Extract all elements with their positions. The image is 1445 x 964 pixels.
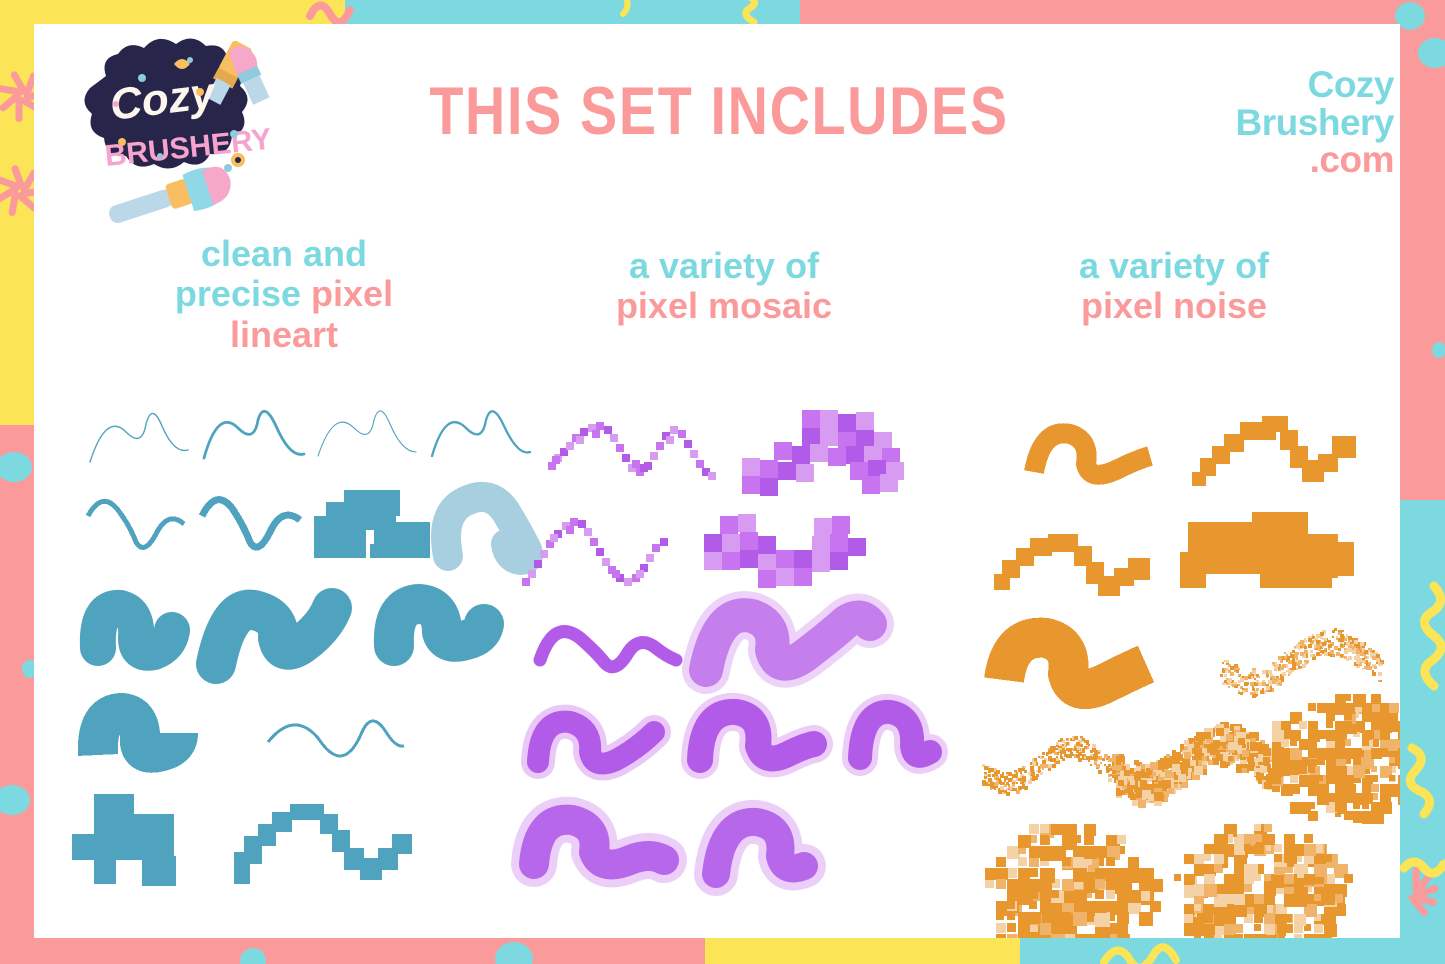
brush-sample-blocky-wave-solid <box>312 486 432 558</box>
heading-pink-text-2: lineart <box>230 314 338 355</box>
band-left-yellow <box>0 0 34 432</box>
squiggle-decoration <box>775 936 815 964</box>
brush-sample-noise-coarse-spray-2 <box>974 824 1154 938</box>
brush-sample-noise-stair-wave-1 <box>1192 404 1362 500</box>
corner-bottom-left <box>0 930 34 964</box>
band-top-yellow <box>0 0 345 24</box>
samples-column-noise <box>964 394 1400 938</box>
brush-sample-mosaic-mid-wave-3 <box>846 696 956 786</box>
heading-pink-text: pixel <box>311 273 393 314</box>
squiggle-decoration <box>1100 940 1180 964</box>
brush-sample-bigpixel-blocks-1 <box>72 794 212 884</box>
brush-sample-mosaic-big-blocks-2 <box>704 510 894 590</box>
squiggle-decoration <box>740 0 780 26</box>
brush-sample-mosaic-smooth-thin <box>532 612 692 682</box>
cozy-brushery-logo: Cozy BRUSHERY <box>82 38 272 223</box>
site-url: Cozy Brushery .com <box>1194 66 1394 179</box>
brush-sample-noise-coarse-spray-3 <box>1154 824 1364 938</box>
brush-sample-mosaic-big-blocks-1 <box>742 402 922 502</box>
brush-sample-bigpixel-stair-wave <box>234 792 414 884</box>
band-right-pink <box>1400 0 1445 505</box>
site-line-2: Brushery <box>1194 104 1394 142</box>
brush-sample-thick-wave-3 <box>372 590 502 670</box>
band-left-pink <box>0 425 34 964</box>
squiggle-decoration <box>300 0 360 24</box>
corner-top-left <box>0 0 34 24</box>
squiggle-decoration <box>1398 852 1445 898</box>
squiggle-decoration <box>1404 580 1445 690</box>
brush-sample-pixel-wave-small-2 <box>198 492 308 556</box>
brush-sample-thick-wave-2 <box>206 588 366 674</box>
brush-sample-mosaic-mid-wave-1 <box>524 704 684 790</box>
heading-pink-text: pixel mosaic <box>616 285 832 326</box>
brush-sample-noise-fine-spray-1 <box>1212 616 1392 706</box>
brush-sample-hairline-wave-long <box>264 712 414 768</box>
band-bot-cyan <box>1020 938 1445 964</box>
brush-sample-thin-taper-wave-2 <box>198 402 308 474</box>
column-heading-lineart: clean and precise pixel lineart <box>74 234 494 355</box>
heading-blue-text: clean and <box>201 233 367 274</box>
heading-blue-text: a variety of <box>629 245 819 286</box>
heading-blue-text-2: precise <box>175 273 301 314</box>
corner-bottom-right <box>1400 930 1445 964</box>
band-bot-yellow <box>705 938 1025 964</box>
brush-sample-chunky-wave <box>78 699 198 779</box>
band-top-cyan <box>345 0 800 24</box>
content-card: Cozy BRUSHERY <box>34 24 1400 938</box>
band-bot-pink <box>0 938 712 964</box>
brush-sample-mosaic-speckle-wave-2 <box>522 512 692 592</box>
heading-blue-text: a variety of <box>1079 245 1269 286</box>
brush-sample-mosaic-mid-wave-2 <box>684 696 844 788</box>
brush-sample-mosaic-soft-wave-1 <box>518 798 688 898</box>
site-line-3: .com <box>1194 141 1394 179</box>
samples-column-lineart <box>54 394 494 938</box>
starburst-icon <box>18 95 20 97</box>
brush-sample-thick-wave-1 <box>78 594 198 674</box>
brush-sample-noise-blocky-slab <box>1180 512 1370 602</box>
brush-sample-mosaic-soft-wave-2 <box>700 804 850 900</box>
starburst-icon <box>15 190 17 192</box>
brush-sample-noise-coarse-spray-1 <box>1254 694 1400 814</box>
promo-graphic: Cozy BRUSHERY <box>0 0 1445 964</box>
decorative-dot <box>1418 38 1445 68</box>
brush-sample-mosaic-smooth-thick <box>692 594 892 694</box>
brush-sample-noise-fine-spray-2 <box>974 724 1124 804</box>
brush-sample-thin-taper-wave-1 <box>84 404 194 474</box>
brush-sample-pixel-wave-small-1 <box>84 494 194 556</box>
column-heading-noise: a variety of pixel noise <box>964 246 1384 327</box>
squiggle-decoration <box>1402 740 1445 820</box>
decorative-dot <box>1432 342 1445 358</box>
brush-sample-noise-thick-wave <box>988 618 1178 718</box>
column-heading-mosaic: a variety of pixel mosaic <box>514 246 934 327</box>
heading-pink-text: pixel noise <box>1081 285 1267 326</box>
squiggle-decoration <box>612 0 638 22</box>
brush-sample-noise-stair-wave-2 <box>994 518 1154 598</box>
samples-column-mosaic <box>504 394 944 938</box>
page-title: THIS SET INCLUDES <box>379 72 1060 150</box>
band-top-pink <box>800 0 1445 24</box>
brush-sample-mosaic-speckle-wave-1 <box>544 412 724 492</box>
starburst-icon <box>176 960 178 962</box>
brush-sample-noise-smooth-wave <box>1024 418 1174 498</box>
site-line-1: Cozy <box>1194 66 1394 104</box>
brush-sample-thin-taper-wave-3 <box>312 404 422 474</box>
